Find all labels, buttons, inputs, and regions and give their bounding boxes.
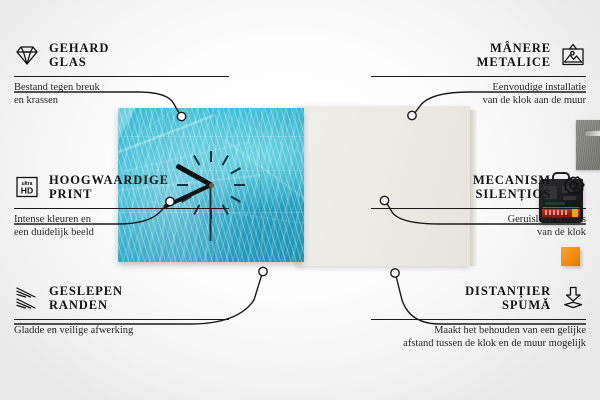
callout-geslepen-randen: GESLEPEN RANDEN Gladde en veilige afwerk… <box>14 281 229 337</box>
callout-divider <box>14 208 229 209</box>
svg-text:HD: HD <box>21 186 33 196</box>
callout-description: Geruisloze wijzers van de klok <box>371 213 586 239</box>
callout-divider <box>14 319 229 320</box>
diamond-icon <box>14 43 40 67</box>
ultra-hd-icon: ultra HD <box>14 175 40 199</box>
picture-hanger-icon <box>560 43 586 67</box>
infographic-stage: GEHARD GLAS Bestand tegen breuk en krass… <box>0 0 600 400</box>
callout-divider <box>371 76 586 77</box>
hanger-slot <box>585 130 600 136</box>
callout-hoogwaardige-print: ultra HD HOOGWAARDIGE PRINT Intense kleu… <box>14 170 229 239</box>
callout-title: GESLEPEN RANDEN <box>49 284 123 312</box>
callout-header: ultra HD HOOGWAARDIGE PRINT <box>14 170 229 204</box>
callout-description: Intense kleuren en een duidelijk beeld <box>14 213 229 239</box>
callout-header: GEHARD GLAS <box>14 38 229 72</box>
spacer-arrow-icon <box>560 286 586 310</box>
callout-divider <box>371 208 586 209</box>
callout-description: Maakt het behouden van een gelijke afsta… <box>371 324 586 350</box>
callout-title: GEHARD GLAS <box>49 41 109 69</box>
callout-title: MECANISM SILENȚIOS <box>473 173 551 201</box>
callout-manere-metalice: MÂNERE METALICE Eenvoudige installatie v… <box>371 38 586 107</box>
gear-icon <box>560 175 586 199</box>
callout-gehard-glas: GEHARD GLAS Bestand tegen breuk en krass… <box>14 38 229 107</box>
callout-header: MECANISM SILENȚIOS <box>371 170 586 204</box>
callout-divider <box>371 319 586 320</box>
callout-description: Eenvoudige installatie van de klok aan d… <box>371 81 586 107</box>
metal-hanger-plate <box>576 120 600 170</box>
callout-description: Gladde en veilige afwerking <box>14 324 229 337</box>
beveled-edge-icon <box>14 286 40 310</box>
callout-mecanism-silentios: MECANISM SILENȚIOS Geruisloze wijzers va… <box>371 170 586 239</box>
callout-distantier-spuma: DISTANȚIER SPUMĂ Maakt het behouden van … <box>371 281 586 350</box>
callout-description: Bestand tegen breuk en krassen <box>14 81 229 107</box>
callout-header: MÂNERE METALICE <box>371 38 586 72</box>
callout-divider <box>14 76 229 77</box>
callout-header: DISTANȚIER SPUMĂ <box>371 281 586 315</box>
callout-title: HOOGWAARDIGE PRINT <box>49 173 169 201</box>
callout-title: DISTANȚIER SPUMĂ <box>465 284 551 312</box>
callout-header: GESLEPEN RANDEN <box>14 281 229 315</box>
foam-spacer <box>561 247 580 266</box>
callout-title: MÂNERE METALICE <box>477 41 551 69</box>
